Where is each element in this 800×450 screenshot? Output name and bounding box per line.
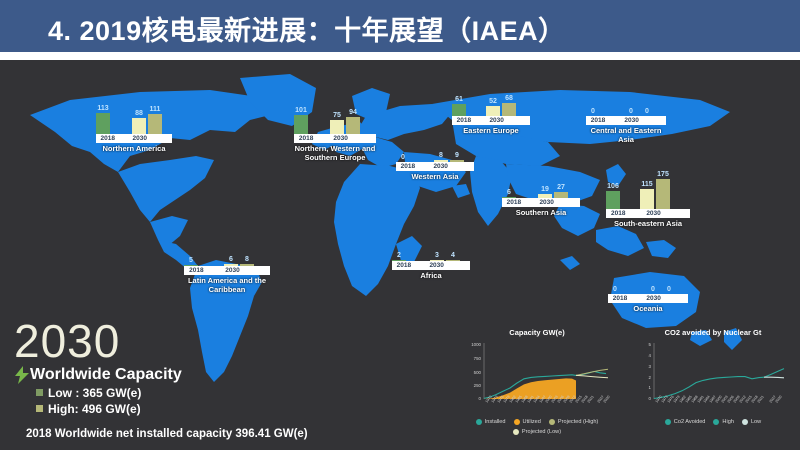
axis-year-2018: 2018 [189,266,203,275]
bar-value: 61 [455,96,463,103]
legend-item[interactable]: Projected (Low) [513,429,561,435]
bar-value: 88 [135,110,143,117]
svg-text:2021: 2021 [587,395,595,404]
region-label: Latin America and the Caribbean [184,276,270,294]
svg-text:2: 2 [649,375,652,380]
bar-value: 0 [401,154,405,161]
legend-item[interactable]: High [713,419,734,425]
bar-projected-high-2030: 94 [346,117,360,134]
bar-value: 8 [439,152,443,159]
bar-value: 0 [645,108,649,115]
bar-installed-2018: 106 [606,191,620,209]
svg-text:3: 3 [649,364,652,369]
region-callout-central-eastern-asia[interactable]: 0 0 0 2018 2030 Central and Eastern Asia [586,100,666,144]
bar-value: 0 [651,286,655,293]
legend-label: High [722,419,734,425]
bar-value: 27 [557,184,565,191]
region-bars: 0 8 9 [396,146,474,162]
axis-year-2018: 2018 [397,261,411,270]
region-callout-latin-america-caribbean[interactable]: 5 6 8 2018 2030 Latin America and the Ca… [184,250,270,294]
bar-value: 4 [451,252,455,259]
region-axis: 2018 2030 [392,261,470,270]
region-bars: 106 115 175 [606,175,690,209]
axis-year-2030: 2030 [333,134,347,143]
bar-value: 3 [435,252,439,259]
svg-text:0: 0 [479,396,482,401]
low-label-text: Low : 365 GW(e) [48,386,141,400]
legend-item[interactable]: Low [742,419,761,425]
lightning-bolt-icon [14,366,30,384]
legend-label: Utilized [523,419,541,425]
bar-installed-2018: 113 [96,113,110,134]
axis-year-2018: 2018 [401,162,415,171]
region-label: Central and Eastern Asia [586,126,666,144]
chart-capacity-plot: 1000 750 500 250 0 1970 1973 1976 1979 1… [458,339,616,417]
region-axis: 2018 2030 [502,198,580,207]
bar-value: 6 [229,256,233,263]
region-label: Northern, Western and Southern Europe [294,144,376,162]
region-bars: 6 19 27 [502,178,580,198]
bar-installed-2018: 101 [294,115,308,134]
region-label: Southern Asia [502,208,580,217]
chart-title: CO2 avoided by Nuclear Gt [634,328,792,337]
region-bars: 61 52 68 [452,82,530,116]
region-bars: 2 3 4 [392,245,470,261]
worldwide-capacity-heading: Worldwide Capacity [30,366,182,384]
installed-capacity-note: 2018 Worldwide net installed capacity 39… [26,428,308,440]
region-bars: 5 6 8 [184,250,270,266]
chart-co2-plot: 5 4 3 2 1 0 1970 1973 1976 1979 1982 198… [634,339,792,417]
axis-year-2030: 2030 [539,198,553,207]
svg-text:1000: 1000 [471,342,481,347]
axis-year-2018: 2018 [507,198,521,207]
axis-year-2030: 2030 [225,266,239,275]
bar-value: 19 [541,186,549,193]
region-callout-southern-asia[interactable]: 6 19 27 2018 2030 Southern Asia [502,178,580,217]
region-label: Africa [392,271,470,280]
legend-item[interactable]: Co2 Avoided [665,419,706,425]
region-bars: 101 75 94 [294,100,376,134]
bar-value: 113 [97,105,108,112]
bar-value: 5 [189,257,193,264]
region-label: Oceania [608,304,688,313]
bar-value: 94 [349,109,357,116]
bar-value: 0 [613,286,617,293]
svg-text:2030: 2030 [775,395,783,404]
title-divider [0,52,800,60]
bar-projected-high-2030: 175 [656,179,670,209]
svg-text:250: 250 [474,383,482,388]
bar-projected-low-2030: 115 [640,189,654,209]
legend-item[interactable]: Projected (High) [549,419,598,425]
chart-co2-avoided[interactable]: CO2 avoided by Nuclear Gt 5 4 3 2 1 0 19… [634,328,792,425]
svg-text:750: 750 [474,356,482,361]
bar-value: 115 [641,181,652,188]
axis-year-2030: 2030 [433,162,447,171]
axis-year-2030: 2030 [646,209,660,218]
svg-text:1: 1 [649,385,652,390]
legend-label: Low [751,419,761,425]
region-label: South-eastern Asia [606,219,690,228]
bar-value: 52 [489,98,497,105]
region-label: Western Asia [396,172,474,181]
bar-value: 75 [333,112,341,119]
bar-projected-low-2030: 52 [486,106,500,116]
svg-text:4: 4 [649,353,652,358]
region-callout-eastern-europe[interactable]: 61 52 68 2018 2030 Eastern Europe [452,82,530,135]
svg-text:2030: 2030 [603,395,611,404]
bar-projected-low-2030: 75 [330,120,344,134]
region-callout-northern-western-southern-europe[interactable]: 101 75 94 2018 2030 Northern, Western an… [294,100,376,162]
region-callout-oceania[interactable]: 0 0 0 2018 2030 Oceania [608,278,688,313]
region-callout-south-eastern-asia[interactable]: 106 115 175 2018 2030 South-eastern Asia [606,175,690,228]
region-axis: 2018 2030 [184,266,270,275]
chart-co2-legend: Co2 Avoided High Low [634,419,792,425]
legend-label: Projected (Low) [522,429,561,435]
bar-value: 2 [397,252,401,259]
svg-text:5: 5 [649,342,652,347]
worldwide-capacity-high: High: 496 GW(e) [36,402,141,416]
high-swatch-icon [36,405,43,412]
region-label: Northern America [96,144,172,153]
legend-label: Co2 Avoided [674,419,706,425]
region-axis: 2018 2030 [586,116,666,125]
svg-text:500: 500 [474,370,482,375]
region-label: Eastern Europe [452,126,530,135]
axis-year-2030: 2030 [646,294,660,303]
bar-value: 9 [455,152,459,159]
chart-title: Capacity GW(e) [458,328,616,337]
axis-year-2030: 2030 [624,116,638,125]
bar-value: 0 [591,108,595,115]
bar-installed-2018: 61 [452,104,466,116]
axis-year-2018: 2018 [101,134,115,143]
axis-year-2030: 2030 [429,261,443,270]
bar-value: 0 [667,286,671,293]
worldwide-capacity-low: Low : 365 GW(e) [36,386,141,400]
legend-label: Installed [485,419,506,425]
bar-value: 111 [150,106,161,113]
region-bars: 0 0 0 [586,100,666,116]
region-axis: 2018 2030 [606,209,690,218]
svg-text:0: 0 [649,396,652,401]
region-bars: 0 0 0 [608,278,688,294]
high-label-text: High: 496 GW(e) [48,402,141,416]
region-axis: 2018 2030 [396,162,474,171]
svg-text:2021: 2021 [757,395,765,404]
axis-year-2018: 2018 [299,134,313,143]
legend-label: Projected (High) [558,419,598,425]
axis-year-2018: 2018 [613,294,627,303]
bar-value: 101 [295,107,307,114]
bar-value: 68 [505,95,513,102]
region-axis: 2018 2030 [96,134,172,143]
bar-value: 106 [607,183,619,190]
region-axis: 2018 2030 [608,294,688,303]
region-axis: 2018 2030 [452,116,530,125]
summary-year: 2030 [14,318,120,364]
bar-value: 6 [507,189,511,196]
axis-year-2030: 2030 [489,116,503,125]
legend-item[interactable]: Utilized [514,419,541,425]
region-callout-western-asia[interactable]: 0 8 9 2018 2030 Western Asia [396,146,474,181]
axis-year-2018: 2018 [591,116,605,125]
bar-projected-high-2030: 111 [148,114,162,134]
page-title: 4. 2019核电最新进展：十年展望（IAEA） [48,9,566,48]
region-bars: 113 88 111 [96,100,172,134]
bar-value: 8 [245,256,249,263]
axis-year-2018: 2018 [611,209,625,218]
legend-item[interactable]: Installed [476,419,506,425]
bar-value: 0 [629,108,633,115]
chart-capacity-legend: Installed Utilized Projected (High) Proj… [458,419,616,435]
axis-year-2030: 2030 [132,134,146,143]
bar-value: 175 [657,171,669,178]
axis-year-2018: 2018 [457,116,471,125]
bar-projected-high-2030: 68 [502,103,516,116]
bar-projected-low-2030: 88 [132,118,146,134]
region-axis: 2018 2030 [294,134,376,143]
region-callout-africa[interactable]: 2 3 4 2018 2030 Africa [392,245,470,280]
chart-capacity-gwe[interactable]: Capacity GW(e) 1000 750 500 250 0 1970 1… [458,328,616,435]
region-callout-northern-america[interactable]: 113 88 111 2018 2030 Northern America [96,100,172,153]
low-swatch-icon [36,389,43,396]
